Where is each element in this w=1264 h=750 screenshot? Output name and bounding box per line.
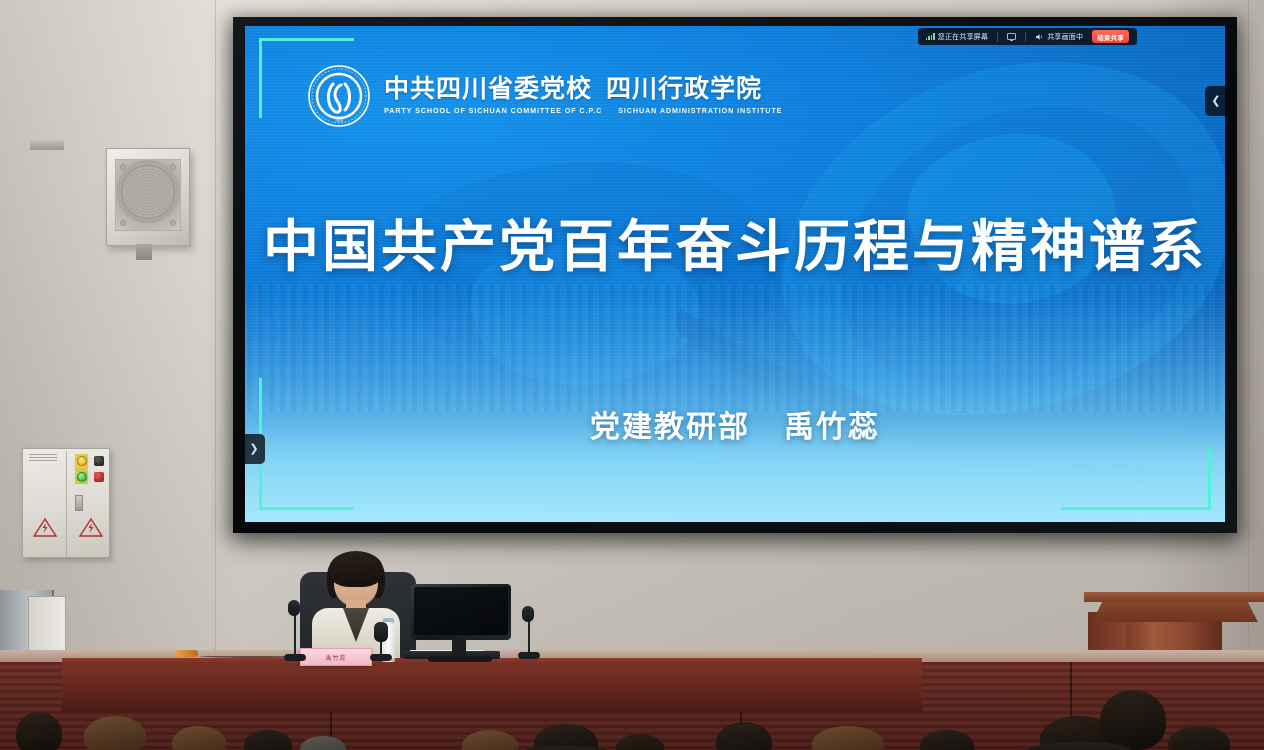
screen-share-toolbar[interactable]: 您正在共享屏幕 共享画面中 结束共享 [918,28,1137,45]
speaker-bracket-top [30,140,64,150]
electrical-cabinet [22,448,110,558]
electrical-warning-icon [33,517,57,537]
electrical-warning-icon [79,517,103,537]
podium-top-surface [1084,592,1264,602]
wall-seam [1248,0,1249,650]
projection-screen-frame: 1950 中共四川省委党校四川行政学院 PARTY SCHOOL OF SICH… [233,17,1237,533]
share-status-item: 您正在共享屏幕 [926,32,988,42]
school-logo-lockup: 1950 中共四川省委党校四川行政学院 PARTY SCHOOL OF SICH… [307,64,782,128]
speaker-bracket-bottom [136,244,152,260]
toolbar-divider [997,32,998,42]
screen-share-icon[interactable] [1007,33,1016,41]
cabinet-button-red[interactable] [94,472,104,482]
school-name-cn: 中共四川省委党校四川行政学院 [384,77,782,102]
school-name-block: 中共四川省委党校四川行政学院 PARTY SCHOOL OF SICHUAN C… [384,77,782,114]
monitor-screen [414,587,508,635]
audience-head [16,712,62,750]
presenter-hair [329,551,383,587]
slide-subtitle-dept: 党建教研部 [590,411,750,444]
cabinet-door-split [66,451,67,557]
stop-share-button[interactable]: 结束共享 [1092,30,1129,43]
brush-tail-graphic [675,281,1225,491]
monitor-base [428,656,492,662]
signal-bars-icon [926,33,935,40]
share-mode-item[interactable]: 共享画面中 [1035,32,1083,42]
toolbar-divider [1025,32,1026,42]
audience-head [84,716,146,750]
speaker-icon [1035,33,1044,41]
microphone-head[interactable] [374,622,388,642]
sidebar-collapse-tab-right[interactable]: ❮ [1205,86,1225,116]
share-status-label: 您正在共享屏幕 [938,32,988,42]
svg-text:1950: 1950 [335,118,343,123]
cabinet-switch[interactable] [75,495,83,511]
speaker-cone [121,165,175,219]
speaker-desk-front [62,666,922,712]
presenter-name-placard: 禹竹蕊 [300,648,372,666]
school-crest-icon: 1950 [307,64,371,128]
cabinet-label-plate [29,454,57,462]
cabinet-button-black[interactable] [94,456,104,466]
projector-streaks [245,284,1225,413]
indicator-lamp-yellow [77,456,87,466]
presentation-slide: 1950 中共四川省委党校四川行政学院 PARTY SCHOOL OF SICH… [245,26,1225,522]
slide-subtitle: 党建教研部禹竹蕊 [245,402,1225,446]
slide-title: 中国共产党百年奋斗历程与精神谱系 [245,202,1225,283]
wall-speaker [106,148,190,246]
audience-head [1100,690,1166,750]
school-name-en: PARTY SCHOOL OF SICHUAN COMMITTEE OF C.P… [384,107,782,114]
wall-seam [215,0,216,650]
desk-marker [176,650,198,657]
slide-subtitle-name: 禹竹蕊 [784,411,880,444]
share-mode-label: 共享画面中 [1047,32,1083,42]
lecture-hall-scene: 1950 中共四川省委党校四川行政学院 PARTY SCHOOL OF SICH… [0,0,1264,750]
sidebar-expand-tab-left[interactable]: ❯ [245,434,265,464]
speaker-grille [115,159,181,231]
microphone-head[interactable] [288,600,300,616]
microphone-head[interactable] [522,606,534,622]
indicator-lamp-green [77,472,87,482]
